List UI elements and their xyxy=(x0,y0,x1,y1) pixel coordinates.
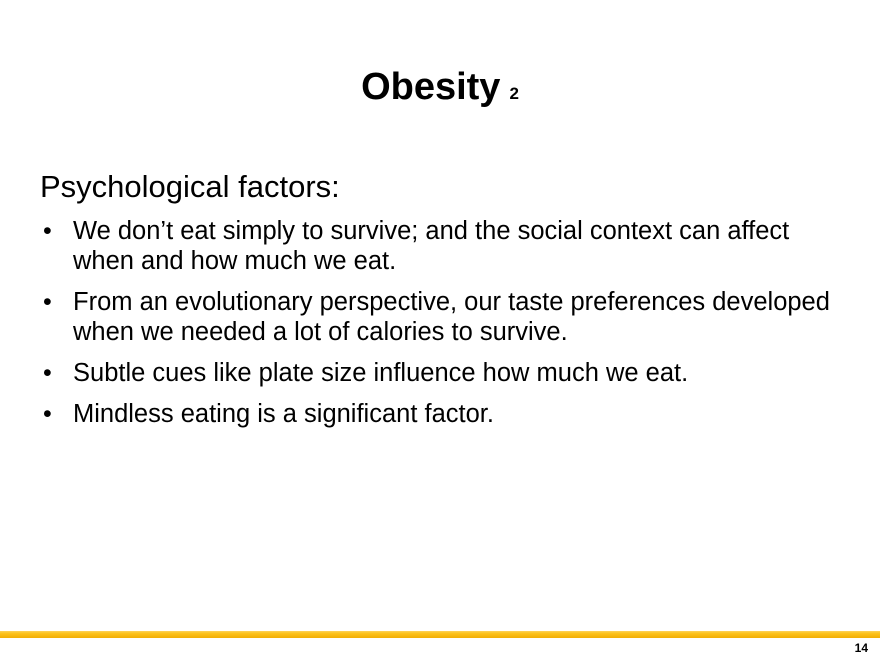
bullet-dot-icon: • xyxy=(43,399,52,429)
slide-title: Obesity2 xyxy=(0,68,880,106)
bullet-dot-icon: • xyxy=(43,287,52,317)
list-item: • Mindless eating is a significant facto… xyxy=(40,399,840,429)
footer-divider xyxy=(0,631,880,638)
bullet-dot-icon: • xyxy=(43,216,52,246)
list-item-text: We don’t eat simply to survive; and the … xyxy=(73,216,840,276)
list-item: • From an evolutionary perspective, our … xyxy=(40,287,840,347)
list-item-text: From an evolutionary perspective, our ta… xyxy=(73,287,840,347)
list-item-text: Mindless eating is a significant factor. xyxy=(73,399,840,429)
slide-body: Psychological factors: • We don’t eat si… xyxy=(40,168,840,429)
slide-title-text: Obesity xyxy=(361,66,500,108)
slide-canvas: Obesity2 Psychological factors: • We don… xyxy=(0,0,880,660)
list-item-text: Subtle cues like plate size influence ho… xyxy=(73,358,840,388)
list-item: • Subtle cues like plate size influence … xyxy=(40,358,840,388)
body-subheading: Psychological factors: xyxy=(40,168,840,206)
bullet-dot-icon: • xyxy=(43,358,52,388)
bullet-list: • We don’t eat simply to survive; and th… xyxy=(40,216,840,429)
slide-title-suffix: 2 xyxy=(509,84,518,103)
page-number: 14 xyxy=(855,641,868,655)
list-item: • We don’t eat simply to survive; and th… xyxy=(40,216,840,276)
